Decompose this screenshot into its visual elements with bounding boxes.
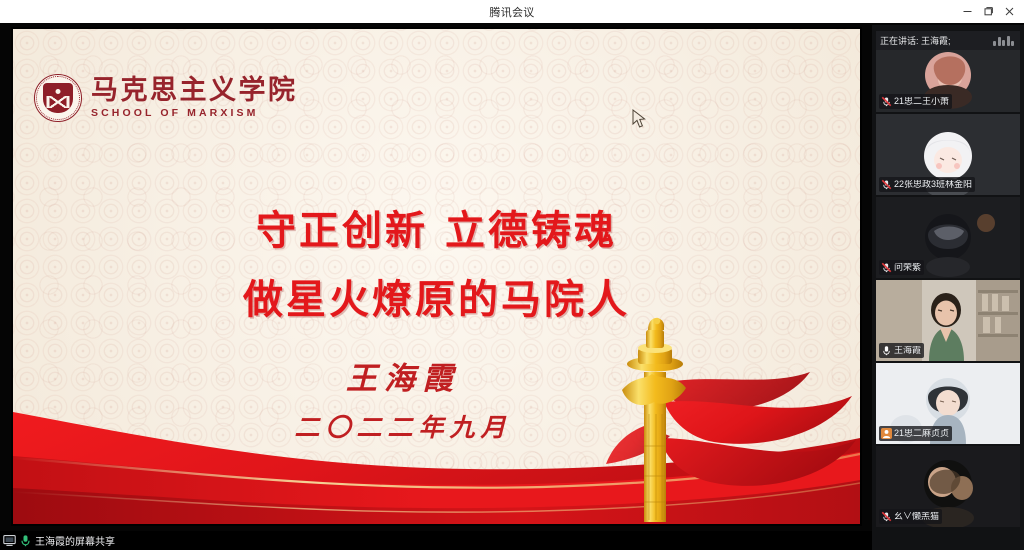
close-button[interactable]: [999, 1, 1020, 22]
participant-tile[interactable]: 正在讲话: 王海霞; 21思二王小萧: [876, 31, 1020, 112]
shared-screen-stage[interactable]: 马克思主义学院 SCHOOL OF MARXISM 守正创新 立德铸魂 做星火燎…: [11, 27, 862, 526]
screen-share-icon: [3, 534, 16, 547]
tencent-meeting-window: 腾讯会议: [0, 0, 1024, 550]
mouse-pointer-icon: [632, 109, 646, 129]
maximize-button[interactable]: [978, 1, 999, 22]
headline-line-1: 守正创新 立德铸魂: [13, 197, 860, 266]
participant-name: 问荣紫: [894, 263, 921, 272]
slide-date: 二〇二二年九月: [13, 402, 793, 453]
title-bar: 腾讯会议: [0, 0, 1024, 23]
mic-muted-icon: [881, 179, 892, 190]
mic-on-icon: [881, 345, 892, 356]
participant-video-rail[interactable]: 正在讲话: 王海霞; 21思二王小萧: [872, 25, 1024, 550]
slide-headline: 守正创新 立德铸魂 做星火燎原的马院人: [13, 197, 860, 335]
meeting-body: 马克思主义学院 SCHOOL OF MARXISM 守正创新 立德铸魂 做星火燎…: [0, 23, 1024, 550]
participant-name: 王海霞: [894, 346, 921, 355]
school-logo: 马克思主义学院 SCHOOL OF MARXISM: [34, 74, 298, 122]
participant-name-chip: 问荣紫: [879, 260, 924, 275]
participant-tile[interactable]: 21思二麻贞贞: [876, 363, 1020, 444]
participant-name-chip: 21思二王小萧: [879, 94, 952, 109]
marxism-school-emblem-icon: [34, 74, 82, 122]
school-name-english: SCHOOL OF MARXISM: [91, 107, 298, 119]
school-logo-text: 马克思主义学院 SCHOOL OF MARXISM: [91, 77, 298, 119]
status-bar-label: 王海霞的屏幕共享: [35, 533, 115, 548]
minimize-button[interactable]: [957, 1, 978, 22]
mic-muted-icon: [881, 511, 892, 522]
school-name-chinese: 马克思主义学院: [91, 77, 298, 106]
participant-name-chip: 幺∨懒羔猫: [879, 509, 942, 524]
window-controls: [957, 0, 1020, 23]
mic-on-green-icon[interactable]: [19, 534, 32, 547]
participant-name: 幺∨懒羔猫: [894, 512, 939, 521]
participant-name: 21思二麻贞贞: [894, 429, 949, 438]
slide-byline: 王海霞 二〇二二年九月: [13, 357, 793, 453]
speaking-indicator-label: 正在讲话: 王海霞;: [880, 34, 951, 47]
speaking-indicator-banner: 正在讲话: 王海霞;: [876, 31, 1020, 50]
participant-tile[interactable]: 幺∨懒羔猫: [876, 446, 1020, 527]
participant-name-chip: 王海霞: [879, 343, 924, 358]
participant-tile[interactable]: 22张思政3班林金阳: [876, 114, 1020, 195]
presentation-slide: 马克思主义学院 SCHOOL OF MARXISM 守正创新 立德铸魂 做星火燎…: [13, 29, 860, 524]
participant-name-chip: 21思二麻贞贞: [879, 426, 952, 441]
participant-tile[interactable]: 问荣紫: [876, 197, 1020, 278]
participant-tile-active-speaker[interactable]: 王海霞: [876, 280, 1020, 361]
mic-muted-icon: [881, 96, 892, 107]
avatar-badge-icon: [881, 428, 892, 439]
participant-name: 22张思政3班林金阳: [894, 180, 972, 189]
participant-name-chip: 22张思政3班林金阳: [879, 177, 975, 192]
mic-muted-icon: [881, 262, 892, 273]
audio-wave-icon: [993, 35, 1014, 46]
window-title: 腾讯会议: [489, 4, 534, 20]
slide-speaker-name: 王海霞: [13, 357, 793, 402]
participant-name: 21思二王小萧: [894, 97, 949, 106]
headline-line-2: 做星火燎原的马院人: [13, 266, 860, 335]
screen-share-status-bar: 王海霞的屏幕共享: [0, 531, 872, 550]
